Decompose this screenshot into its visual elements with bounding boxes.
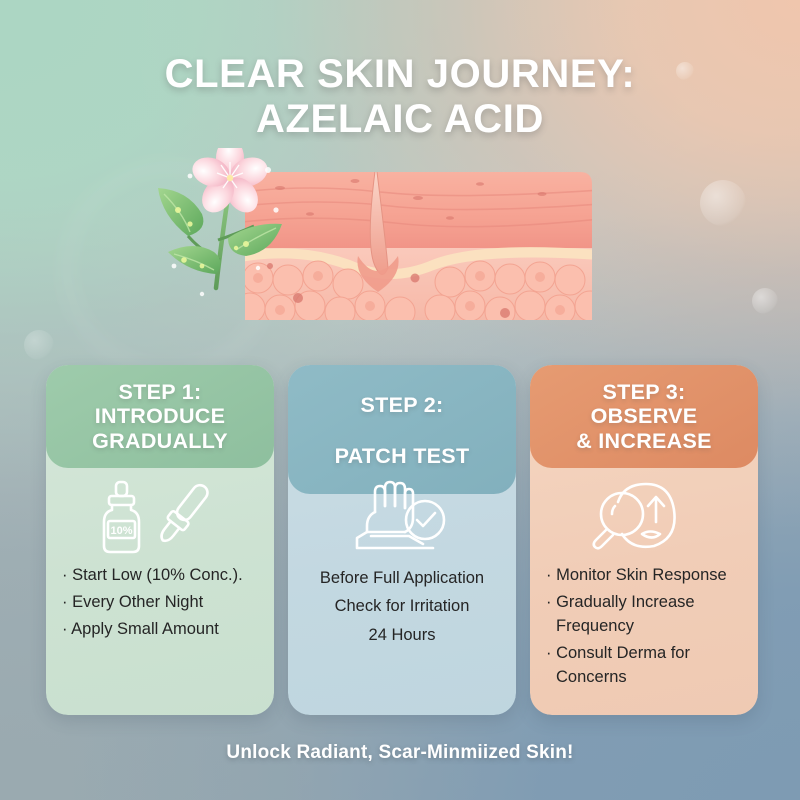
footer-tagline: Unlock Radiant, Scar-Minmiized Skin!: [0, 742, 800, 764]
list-item: Gradually Increase Frequency: [546, 591, 758, 639]
step-1-head-line-2: INTRODUCE: [95, 404, 226, 429]
title-line-1: CLEAR SKIN JOURNEY:: [165, 52, 636, 96]
steps-card-row: STEP 1: INTRODUCE GRADUALLY: [46, 365, 758, 715]
step-3-head-line-1: STEP 3:: [603, 380, 686, 405]
step-2-text-lines: Before Full Application Check for Irrita…: [288, 564, 516, 649]
list-item: Consult Derma for Concerns: [546, 642, 758, 690]
page-title: CLEAR SKIN JOURNEY: AZELAIC ACID: [0, 52, 800, 142]
step-3-bullet-list: Monitor Skin Response Gradually Increase…: [530, 564, 758, 693]
text-line: Check for Irritation: [288, 592, 516, 620]
step-card-3[interactable]: STEP 3: OBSERVE & INCREASE: [530, 365, 758, 715]
step-2-head-line-2: PATCH TEST: [335, 444, 470, 469]
step-1-bullet-list: Start Low (10% Conc.). Every Other Night…: [46, 564, 274, 645]
step-3-head-line-3: & INCREASE: [576, 429, 712, 454]
leaf: [168, 246, 221, 274]
face-magnifier-arrow-icon: [530, 468, 758, 564]
text-line: 24 Hours: [288, 621, 516, 649]
list-item: Start Low (10% Conc.).: [62, 564, 274, 588]
step-1-header: STEP 1: INTRODUCE GRADUALLY: [46, 365, 274, 468]
dropper-bottle-icon: 10%: [46, 468, 274, 564]
step-2-head-line-1: STEP 2:: [361, 393, 444, 418]
skin-cross-section-illustration: [150, 148, 600, 328]
list-item: Every Other Night: [62, 591, 274, 615]
step-3-head-line-2: OBSERVE: [591, 404, 698, 429]
bokeh-circle: [24, 330, 54, 360]
bottle-concentration-label: 10%: [110, 525, 132, 537]
step-1-head-line-1: STEP 1:: [119, 380, 202, 405]
step-card-2[interactable]: STEP 2: PATCH TEST: [288, 365, 516, 715]
text-line: Before Full Application: [288, 564, 516, 592]
bokeh-circle: [700, 180, 746, 226]
arm-patch-check-icon: [288, 468, 516, 564]
step-3-header: STEP 3: OBSERVE & INCREASE: [530, 365, 758, 468]
title-line-2: AZELAIC ACID: [0, 97, 800, 142]
leaf: [158, 188, 203, 236]
infographic-canvas: CLEAR SKIN JOURNEY: AZELAIC ACID: [0, 0, 800, 800]
list-item: Apply Small Amount: [62, 618, 274, 642]
list-item: Monitor Skin Response: [546, 564, 758, 588]
step-card-1[interactable]: STEP 1: INTRODUCE GRADUALLY: [46, 365, 274, 715]
bokeh-circle: [752, 288, 778, 314]
step-1-head-line-3: GRADUALLY: [92, 429, 228, 454]
skin-block: [235, 164, 600, 328]
